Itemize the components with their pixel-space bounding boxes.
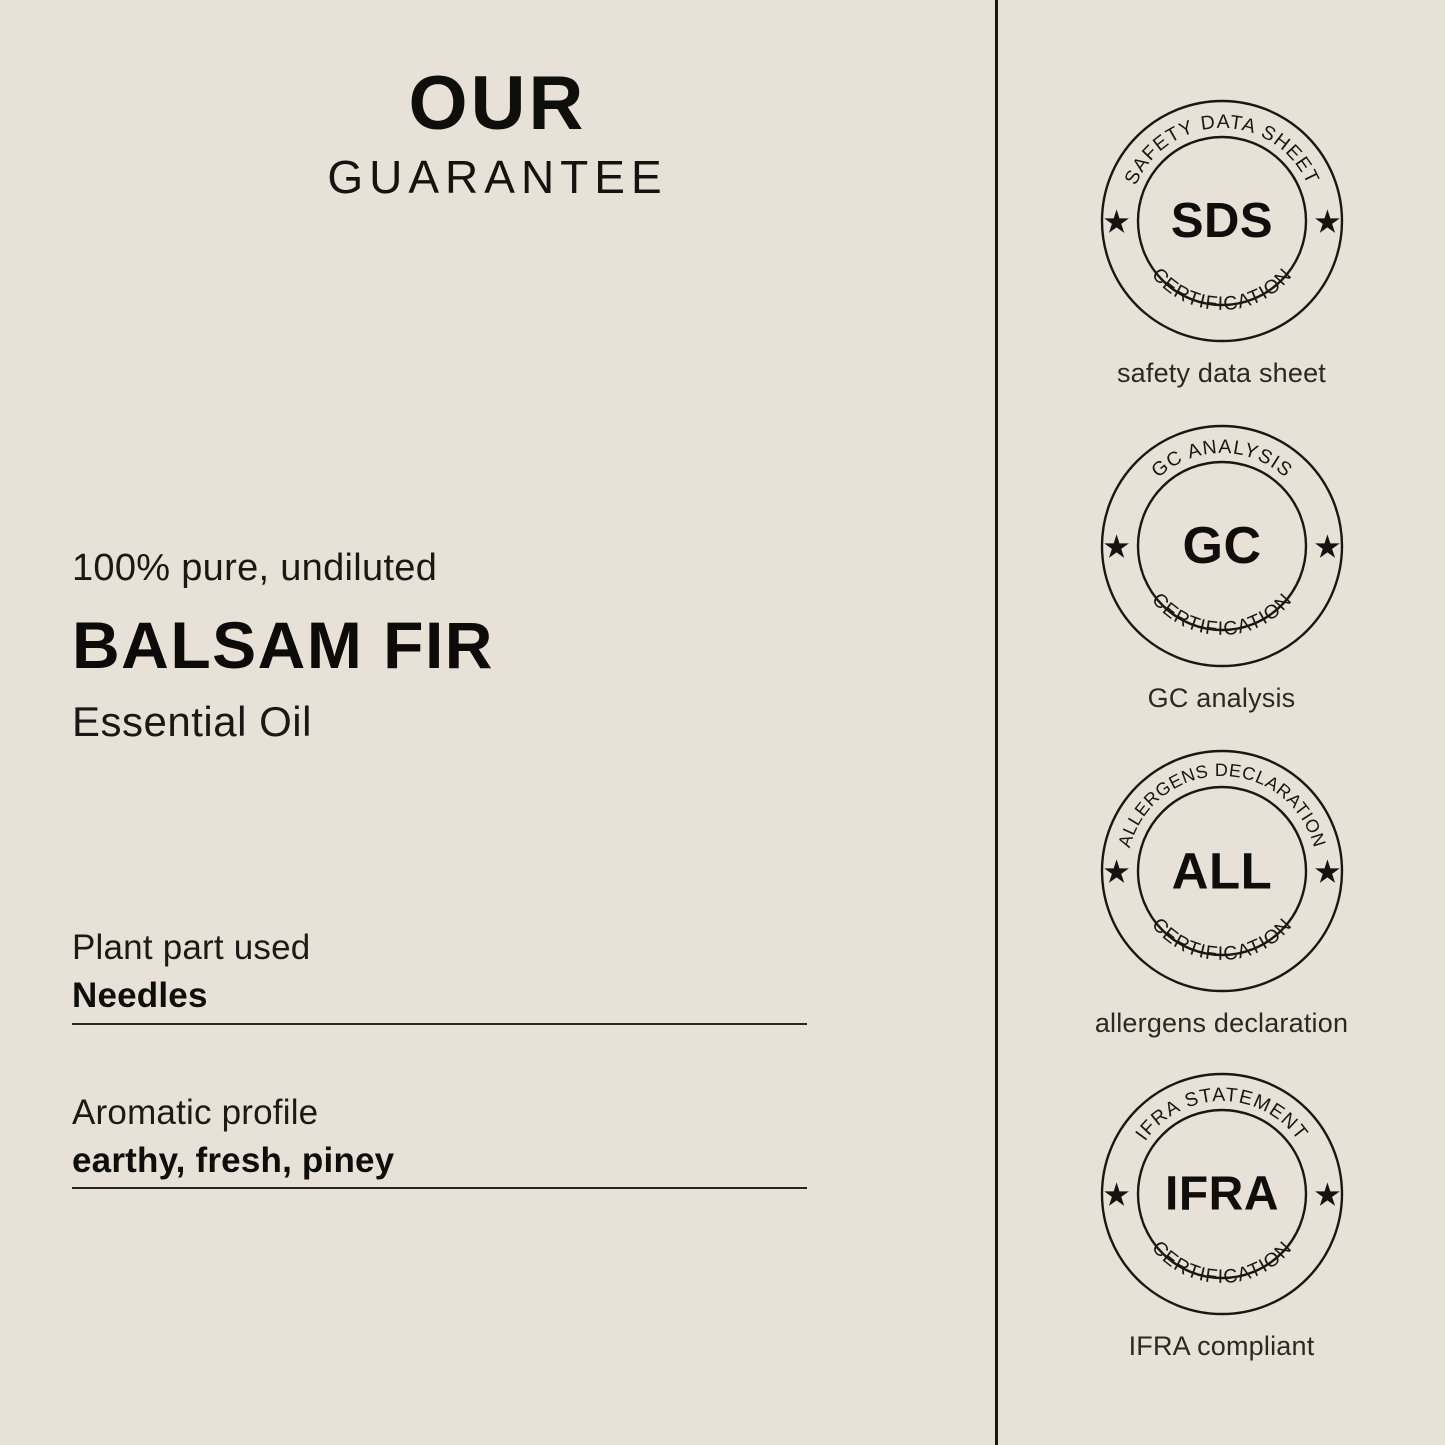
page-title-secondary: GUARANTEE [0, 154, 995, 200]
badge-caption: allergens declaration [998, 1007, 1445, 1039]
page-title-primary: OUR [0, 66, 995, 142]
badge-caption: GC analysis [998, 682, 1445, 714]
certification-badges-column: SAFETY DATA SHEET CERTIFICATION SDS safe… [998, 0, 1445, 1445]
certification-badge-ifra: IFRA STATEMENT CERTIFICATION IFRA IFRA c… [998, 1072, 1445, 1362]
svg-text:CERTIFICATION: CERTIFICATION [1147, 1237, 1296, 1289]
badge-arc-bottom: CERTIFICATION [1147, 264, 1296, 316]
attribute-label: Plant part used [72, 928, 807, 968]
attribute-row-plant-part: Plant part used Needles [72, 928, 807, 1025]
attribute-label: Aromatic profile [72, 1093, 807, 1133]
product-name: BALSAM FIR [72, 612, 832, 678]
product-type: Essential Oil [72, 700, 832, 744]
product-purity-statement: 100% pure, undiluted [72, 548, 832, 590]
product-attributes-list: Plant part used Needles Aromatic profile… [72, 928, 807, 1189]
svg-text:CERTIFICATION: CERTIFICATION [1147, 914, 1296, 966]
certification-badge-gc: GC ANALYSIS CERTIFICATION GC GC analysis [998, 424, 1445, 714]
star-icon [1315, 534, 1340, 558]
star-icon [1315, 1182, 1340, 1206]
attribute-row-aromatic-profile: Aromatic profile earthy, fresh, piney [72, 1093, 807, 1190]
seal-icon: GC ANALYSIS CERTIFICATION GC [1100, 424, 1344, 668]
badge-center-label: GC [1182, 517, 1261, 575]
star-icon [1104, 534, 1129, 558]
badge-arc-bottom: CERTIFICATION [1147, 1237, 1296, 1289]
badge-center-label: IFRA [1165, 1168, 1279, 1221]
star-icon [1104, 859, 1129, 883]
badge-arc-bottom: CERTIFICATION [1147, 589, 1296, 641]
svg-text:GC ANALYSIS: GC ANALYSIS [1147, 436, 1297, 482]
badge-arc-top: GC ANALYSIS [1147, 436, 1297, 482]
page-title: OUR GUARANTEE [0, 66, 995, 200]
star-icon [1315, 209, 1340, 233]
badge-center-label: ALL [1171, 843, 1272, 900]
attribute-value: Needles [72, 976, 807, 1016]
star-icon [1315, 859, 1340, 883]
product-identity: 100% pure, undiluted BALSAM FIR Essentia… [72, 548, 832, 744]
badge-caption: IFRA compliant [998, 1330, 1445, 1362]
certification-badge-sds: SAFETY DATA SHEET CERTIFICATION SDS safe… [998, 99, 1445, 389]
left-content-column: OUR GUARANTEE 100% pure, undiluted BALSA… [0, 0, 995, 1445]
seal-icon: IFRA STATEMENT CERTIFICATION IFRA [1100, 1072, 1344, 1316]
attribute-value: earthy, fresh, piney [72, 1141, 807, 1181]
badge-center-label: SDS [1170, 194, 1272, 248]
seal-icon: ALLERGENS DECLARATION CERTIFICATION ALL [1100, 749, 1344, 993]
guarantee-infographic: OUR GUARANTEE 100% pure, undiluted BALSA… [0, 0, 1445, 1445]
badge-caption: safety data sheet [998, 357, 1445, 389]
star-icon [1104, 209, 1129, 233]
svg-text:CERTIFICATION: CERTIFICATION [1147, 589, 1296, 641]
seal-icon: SAFETY DATA SHEET CERTIFICATION SDS [1100, 99, 1344, 343]
badge-arc-bottom: CERTIFICATION [1147, 914, 1296, 966]
svg-text:CERTIFICATION: CERTIFICATION [1147, 264, 1296, 316]
star-icon [1104, 1182, 1129, 1206]
certification-badge-allergens: ALLERGENS DECLARATION CERTIFICATION ALL … [998, 749, 1445, 1039]
